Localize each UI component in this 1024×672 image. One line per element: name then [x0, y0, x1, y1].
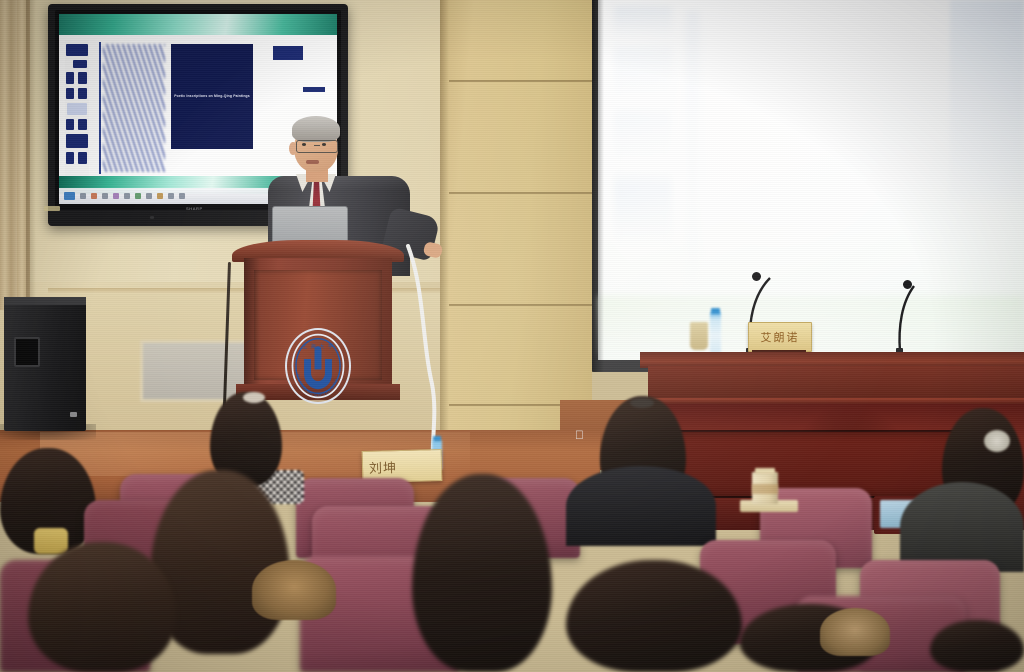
slide-thumbnail[interactable]: [66, 88, 74, 99]
display-ir-receiver: [44, 206, 60, 211]
taskbar-icon[interactable]: [102, 193, 108, 199]
slide-thumbnail[interactable]: [73, 60, 87, 68]
shanghai-university-emblem-icon: 上 海 大 学 SHANGHAI UNIVERSITY: [285, 328, 351, 404]
slide-side-caption: [303, 87, 325, 92]
podium-shading: [244, 258, 260, 388]
taskbar-icon[interactable]: [179, 193, 185, 199]
slide-thumbnail[interactable]: [66, 72, 74, 84]
curtain-shadow: [26, 0, 36, 310]
apron-top-edge: [648, 398, 1024, 404]
slide-thumbnail[interactable]: [78, 119, 87, 130]
apple-logo-icon: : [575, 429, 584, 441]
column-seam: [449, 192, 592, 194]
fur-collar: [820, 608, 890, 656]
hair-scrunchie-icon: [984, 430, 1010, 452]
column-seam: [449, 304, 592, 306]
beverage-carton-top: [755, 468, 775, 474]
water-bottle-cap: [711, 308, 720, 314]
projector-glow: [598, 0, 1024, 360]
wall-column: [440, 0, 592, 455]
microphone-head-icon: [903, 280, 912, 289]
slide-thumbnail-rail[interactable]: [65, 40, 89, 178]
audience-shoulders: [566, 466, 716, 546]
presenter-hair: [292, 116, 340, 142]
slide-thumbnail[interactable]: [67, 103, 87, 115]
taskbar-icon[interactable]: [113, 193, 119, 199]
hair-clip-icon: [630, 398, 654, 408]
microphone-gooseneck: [892, 280, 928, 356]
taskbar-icon[interactable]: [146, 193, 152, 199]
slide-side-panel: [273, 46, 303, 60]
slide-thumbnail[interactable]: [66, 119, 74, 130]
taskbar-icon[interactable]: [168, 193, 174, 199]
hair-clip-icon: [243, 392, 265, 403]
chinese-painting-image: [103, 44, 165, 172]
eyeglasses-icon: [296, 140, 338, 153]
taskbar-icon[interactable]: [124, 193, 130, 199]
eyeglasses-bridge: [314, 145, 320, 146]
slide-thumbnail[interactable]: [78, 152, 87, 164]
water-bottle-podium-cap: [433, 436, 441, 441]
current-slide[interactable]: Poetic Inscriptions on Ming-Qing Paintin…: [171, 44, 253, 149]
audience-head: [566, 560, 742, 672]
slide-thumbnail-selected[interactable]: [66, 134, 88, 148]
start-button-icon[interactable]: [64, 192, 75, 200]
presenter-mouth: [306, 160, 319, 164]
slide-thumbnail[interactable]: [66, 44, 88, 56]
audience-head: [930, 620, 1024, 672]
slide-panel-divider: [99, 42, 101, 174]
fur-collar: [252, 560, 336, 620]
slide-thumbnail[interactable]: [66, 152, 74, 164]
loudspeaker-top: [4, 297, 86, 305]
water-bottle: [710, 312, 721, 354]
beverage-carton-label: [752, 484, 778, 494]
taskbar-icon[interactable]: [91, 193, 97, 199]
display-brand-label: SHARP: [186, 206, 203, 211]
audience-shoulders: [900, 482, 1024, 572]
loudspeaker-badge: [70, 412, 77, 417]
presenter-eye-right: [322, 143, 326, 146]
taskbar-icon[interactable]: [135, 193, 141, 199]
slide-thumbnail[interactable]: [78, 88, 87, 99]
microphone-head-icon: [752, 272, 761, 281]
paper-cup: [690, 322, 708, 350]
presenter-suit-highlight: [268, 176, 410, 190]
table-nameplate: 艾朗诺: [748, 322, 812, 352]
loudspeaker-port-icon: [14, 337, 40, 367]
slide-title-text: Poetic Inscriptions on Ming-Qing Paintin…: [174, 94, 250, 99]
presenter-eye-left: [302, 143, 306, 146]
white-cable: [398, 244, 458, 474]
taskbar-icon[interactable]: [80, 193, 86, 199]
table-nameplate-text: 艾朗诺: [761, 329, 800, 345]
column-seam: [449, 80, 592, 82]
lecture-hall-photo: Poetic Inscriptions on Ming-Qing Paintin…: [0, 0, 1024, 672]
slide-thumbnail[interactable]: [78, 72, 87, 84]
podium-nameplate-text: 刘坤: [369, 457, 398, 477]
display-power-led-icon: [150, 216, 154, 219]
taskbar-icon[interactable]: [157, 193, 163, 199]
audience-scarf: [34, 528, 68, 554]
projection-frame-shadow: [592, 0, 604, 372]
